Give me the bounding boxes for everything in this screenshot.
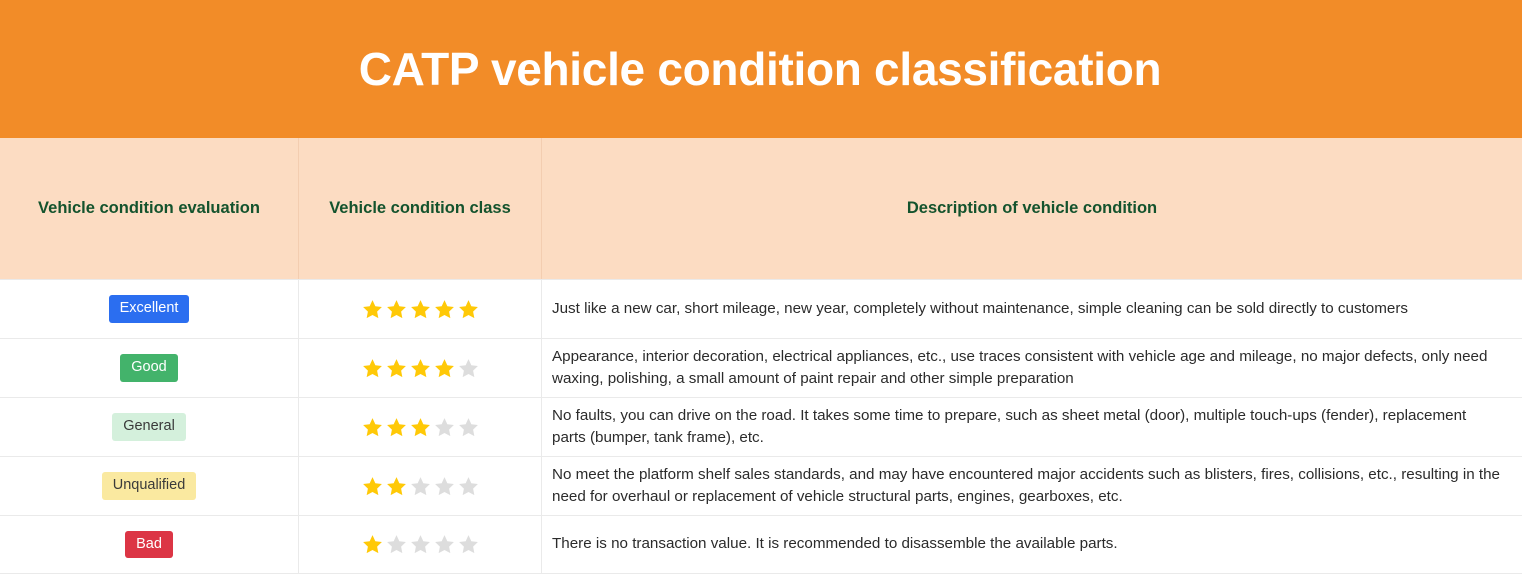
title-banner: CATP vehicle condition classification [0, 0, 1522, 138]
table-body: ExcellentJust like a new car, short mile… [0, 279, 1522, 574]
cell-description: There is no transaction value. It is rec… [542, 516, 1522, 573]
table-header-row: Vehicle condition evaluation Vehicle con… [0, 138, 1522, 279]
description-text: No meet the platform shelf sales standar… [552, 464, 1500, 508]
star-icon [409, 357, 432, 380]
star-icon [457, 475, 480, 498]
cell-class-rating [299, 516, 542, 573]
description-text: Appearance, interior decoration, electri… [552, 346, 1500, 390]
cell-description: No faults, you can drive on the road. It… [542, 398, 1522, 456]
star-icon [457, 357, 480, 380]
vehicle-condition-classification-page: CATP vehicle condition classification Ve… [0, 0, 1527, 579]
cell-description: Appearance, interior decoration, electri… [542, 339, 1522, 397]
star-icon [385, 475, 408, 498]
column-header-description: Description of vehicle condition [542, 138, 1522, 279]
star-icon [385, 416, 408, 439]
star-icon [433, 357, 456, 380]
table-row: ExcellentJust like a new car, short mile… [0, 279, 1522, 338]
star-icon [457, 533, 480, 556]
column-header-class: Vehicle condition class [299, 138, 542, 279]
star-icon [361, 357, 384, 380]
cell-class-rating [299, 339, 542, 397]
table-row: GoodAppearance, interior decoration, ele… [0, 338, 1522, 397]
cell-class-rating [299, 398, 542, 456]
star-icon [457, 298, 480, 321]
status-badge[interactable]: Good [120, 354, 177, 382]
star-icon [433, 533, 456, 556]
status-badge[interactable]: Excellent [109, 295, 190, 323]
status-badge[interactable]: Unqualified [102, 472, 197, 500]
table-row: GeneralNo faults, you can drive on the r… [0, 397, 1522, 456]
star-icon [409, 475, 432, 498]
star-icon [385, 298, 408, 321]
star-icon [433, 416, 456, 439]
cell-description: No meet the platform shelf sales standar… [542, 457, 1522, 515]
description-text: There is no transaction value. It is rec… [552, 533, 1118, 555]
cell-evaluation: Unqualified [0, 457, 299, 515]
star-icon [433, 475, 456, 498]
star-icon [361, 298, 384, 321]
star-rating [361, 416, 480, 439]
column-header-class-label: Vehicle condition class [299, 199, 541, 219]
star-icon [457, 416, 480, 439]
star-rating [361, 357, 480, 380]
star-icon [361, 533, 384, 556]
cell-class-rating [299, 457, 542, 515]
star-icon [433, 298, 456, 321]
star-icon [409, 416, 432, 439]
description-text: Just like a new car, short mileage, new … [552, 298, 1408, 320]
star-rating [361, 298, 480, 321]
star-rating [361, 533, 480, 556]
cell-evaluation: Good [0, 339, 299, 397]
status-badge[interactable]: General [112, 413, 186, 441]
table-row: UnqualifiedNo meet the platform shelf sa… [0, 456, 1522, 515]
star-icon [385, 533, 408, 556]
star-icon [361, 475, 384, 498]
status-badge[interactable]: Bad [125, 531, 173, 559]
vehicle-condition-table: Vehicle condition evaluation Vehicle con… [0, 138, 1522, 579]
cell-description: Just like a new car, short mileage, new … [542, 280, 1522, 338]
star-icon [409, 533, 432, 556]
column-header-description-label: Description of vehicle condition [542, 199, 1522, 219]
star-icon [385, 357, 408, 380]
cell-class-rating [299, 280, 542, 338]
cell-evaluation: Excellent [0, 280, 299, 338]
star-icon [361, 416, 384, 439]
star-icon [409, 298, 432, 321]
column-header-evaluation-label: Vehicle condition evaluation [0, 199, 298, 219]
description-text: No faults, you can drive on the road. It… [552, 405, 1500, 449]
table-row: BadThere is no transaction value. It is … [0, 515, 1522, 574]
column-header-evaluation: Vehicle condition evaluation [0, 138, 299, 279]
page-title: CATP vehicle condition classification [359, 46, 1162, 92]
cell-evaluation: General [0, 398, 299, 456]
star-rating [361, 475, 480, 498]
cell-evaluation: Bad [0, 516, 299, 573]
